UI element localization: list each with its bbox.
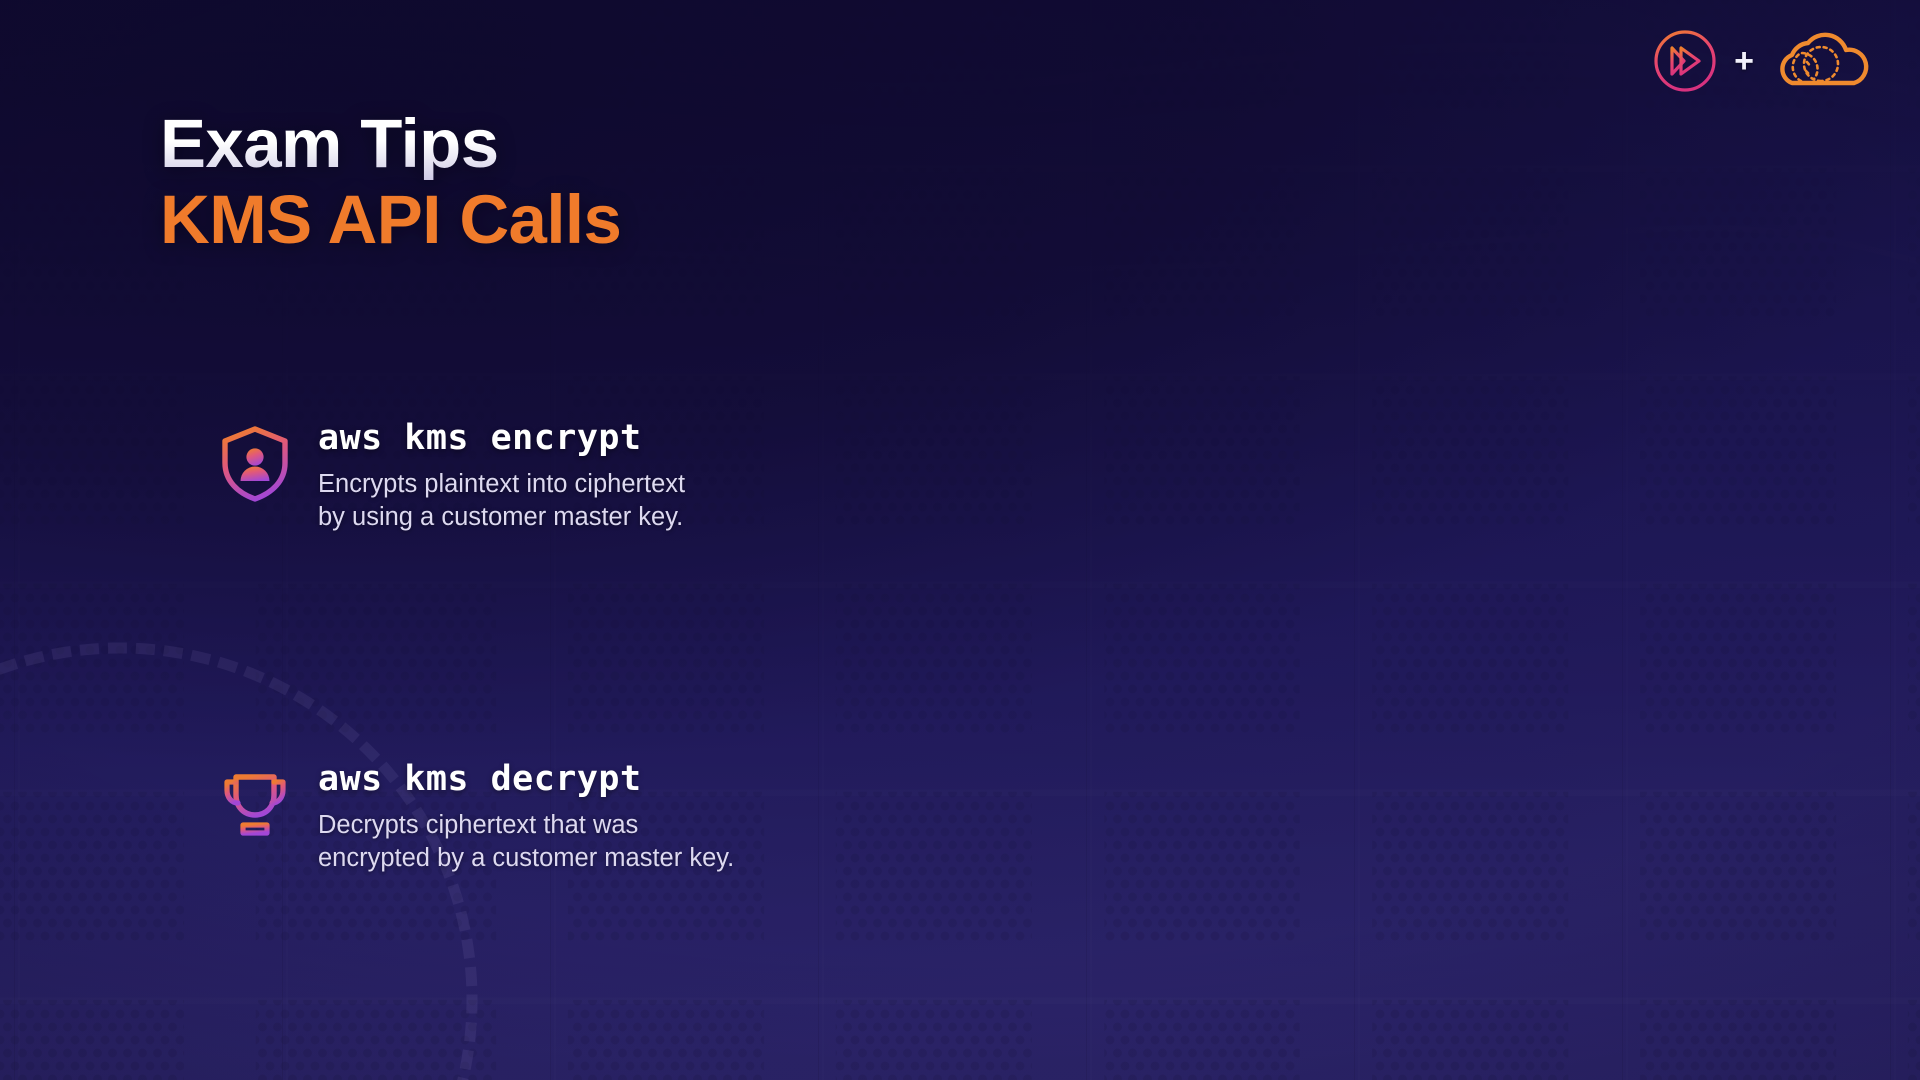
block-icon-wrapper: [218, 765, 292, 850]
page-title: Exam Tips: [160, 108, 621, 180]
cloud-logo-icon[interactable]: [1770, 29, 1874, 93]
slide-root: + Exam Tips KMS API Calls: [0, 0, 1920, 1080]
content-blocks: aws kms encrypt Encrypts plaintext into …: [218, 418, 1038, 875]
list-item: aws kms decrypt Decrypts ciphertext that…: [218, 759, 1038, 876]
brand-plus-separator: +: [1734, 44, 1754, 78]
block-icon-wrapper: [218, 424, 292, 509]
shield-user-icon: [218, 424, 292, 504]
brand-logos: +: [1652, 28, 1874, 94]
block-title: aws kms encrypt: [318, 418, 685, 458]
page-subtitle: KMS API Calls: [160, 184, 621, 256]
list-item: aws kms encrypt Encrypts plaintext into …: [218, 418, 1038, 535]
block-body: aws kms encrypt Encrypts plaintext into …: [318, 418, 685, 535]
block-title: aws kms decrypt: [318, 759, 734, 799]
title-block: Exam Tips KMS API Calls: [160, 108, 621, 256]
block-description: Encrypts plaintext into ciphertext by us…: [318, 468, 685, 534]
play-circle-logo-icon[interactable]: [1652, 28, 1718, 94]
trophy-icon: [218, 765, 292, 845]
block-description: Decrypts ciphertext that was encrypted b…: [318, 809, 734, 875]
block-body: aws kms decrypt Decrypts ciphertext that…: [318, 759, 734, 876]
